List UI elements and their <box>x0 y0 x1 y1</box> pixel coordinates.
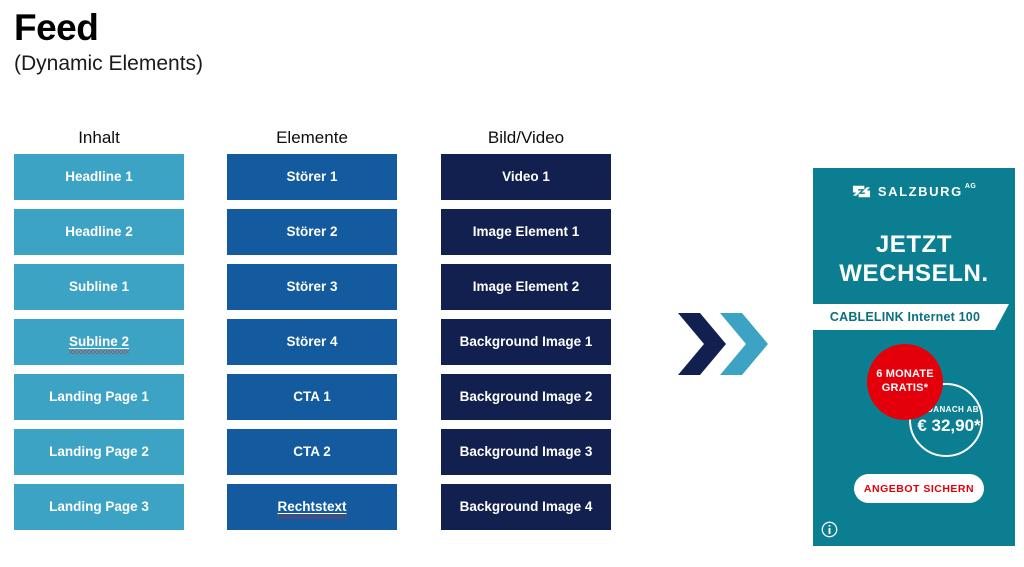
cell-label: Image Element 1 <box>473 225 580 240</box>
cell-label: Headline 2 <box>65 225 133 240</box>
cell-background-image-3[interactable]: Background Image 3 <box>441 429 611 475</box>
ad-cta-button[interactable]: ANGEBOT SICHERN <box>854 474 984 503</box>
cell-cta-2[interactable]: CTA 2 <box>227 429 397 475</box>
cell-image-element-1[interactable]: Image Element 1 <box>441 209 611 255</box>
cell-headline-2[interactable]: Headline 2 <box>14 209 184 255</box>
cell-label: Background Image 2 <box>460 390 593 405</box>
cell-label: Landing Page 2 <box>49 445 149 460</box>
cell-subline-1[interactable]: Subline 1 <box>14 264 184 310</box>
cell-stoerer-4[interactable]: Störer 4 <box>227 319 397 365</box>
cell-rechtstext[interactable]: Rechtstext <box>227 484 397 530</box>
info-circle-icon[interactable] <box>821 521 838 538</box>
ad-headline: JETZT WECHSELN. <box>813 230 1015 289</box>
ad-promo-line-1: 6 MONATE <box>876 368 934 382</box>
cell-landing-page-2[interactable]: Landing Page 2 <box>14 429 184 475</box>
brand-logo: SALZBURG AG <box>813 182 1015 201</box>
cell-label: CTA 1 <box>293 390 331 405</box>
cell-label: Background Image 1 <box>460 335 593 350</box>
cell-video-1[interactable]: Video 1 <box>441 154 611 200</box>
double-chevron-right-icon <box>676 313 780 375</box>
cell-label: Landing Page 3 <box>49 500 149 515</box>
cell-background-image-2[interactable]: Background Image 2 <box>441 374 611 420</box>
cell-label: Landing Page 1 <box>49 390 149 405</box>
ad-headline-line-1: JETZT <box>813 230 1015 259</box>
cell-label: Background Image 4 <box>460 500 593 515</box>
cell-subline-2[interactable]: Subline 2 <box>14 319 184 365</box>
ad-product-name: CABLELINK Internet 100 <box>830 310 980 324</box>
cell-background-image-1[interactable]: Background Image 1 <box>441 319 611 365</box>
ad-promo-badge: 6 MONATE GRATIS* <box>867 344 943 420</box>
brand-name: SALZBURG <box>878 185 963 198</box>
ad-price-value: € 32,90* <box>917 417 980 434</box>
column-inhalt: Inhalt Headline 1 Headline 2 Subline 1 S… <box>14 126 184 539</box>
title-block: Feed (Dynamic Elements) <box>14 8 203 77</box>
cell-landing-page-1[interactable]: Landing Page 1 <box>14 374 184 420</box>
cell-label: Störer 1 <box>286 170 337 185</box>
chevron-light-icon <box>718 313 770 375</box>
column-elemente: Elemente Störer 1 Störer 2 Störer 3 Stör… <box>227 126 397 539</box>
cell-label: CTA 2 <box>293 445 331 460</box>
cell-image-element-2[interactable]: Image Element 2 <box>441 264 611 310</box>
ad-promo-line-2: GRATIS* <box>882 382 928 396</box>
page-subtitle: (Dynamic Elements) <box>14 51 203 77</box>
ad-price-label: DANACH AB <box>927 406 979 414</box>
cell-stoerer-3[interactable]: Störer 3 <box>227 264 397 310</box>
cell-label: Subline 1 <box>69 280 129 295</box>
cell-landing-page-3[interactable]: Landing Page 3 <box>14 484 184 530</box>
column-header-elemente: Elemente <box>227 126 397 154</box>
cell-label: Background Image 3 <box>460 445 593 460</box>
cell-headline-1[interactable]: Headline 1 <box>14 154 184 200</box>
cell-stoerer-2[interactable]: Störer 2 <box>227 209 397 255</box>
cell-label: Headline 1 <box>65 170 133 185</box>
ad-cta-label: ANGEBOT SICHERN <box>864 483 974 495</box>
cell-label: Störer 3 <box>286 280 337 295</box>
column-header-inhalt: Inhalt <box>14 126 184 154</box>
salzburg-ag-logo-icon <box>852 182 871 201</box>
cell-label: Image Element 2 <box>473 280 580 295</box>
page-title: Feed <box>14 8 203 49</box>
brand-suffix: AG <box>965 183 976 190</box>
ad-product-banner: CABLELINK Internet 100 <box>813 304 1009 330</box>
cell-stoerer-1[interactable]: Störer 1 <box>227 154 397 200</box>
column-bild-video: Bild/Video Video 1 Image Element 1 Image… <box>441 126 611 539</box>
cell-background-image-4[interactable]: Background Image 4 <box>441 484 611 530</box>
cell-label: Subline 2 <box>69 335 129 350</box>
cell-label: Störer 4 <box>286 335 337 350</box>
cell-label: Störer 2 <box>286 225 337 240</box>
cell-label: Rechtstext <box>277 500 346 515</box>
column-header-bild-video: Bild/Video <box>441 126 611 154</box>
ad-headline-line-2: WECHSELN. <box>813 259 1015 288</box>
ad-creative-preview[interactable]: SALZBURG AG JETZT WECHSELN. CABLELINK In… <box>813 168 1015 546</box>
cell-cta-1[interactable]: CTA 1 <box>227 374 397 420</box>
cell-label: Video 1 <box>502 170 550 185</box>
